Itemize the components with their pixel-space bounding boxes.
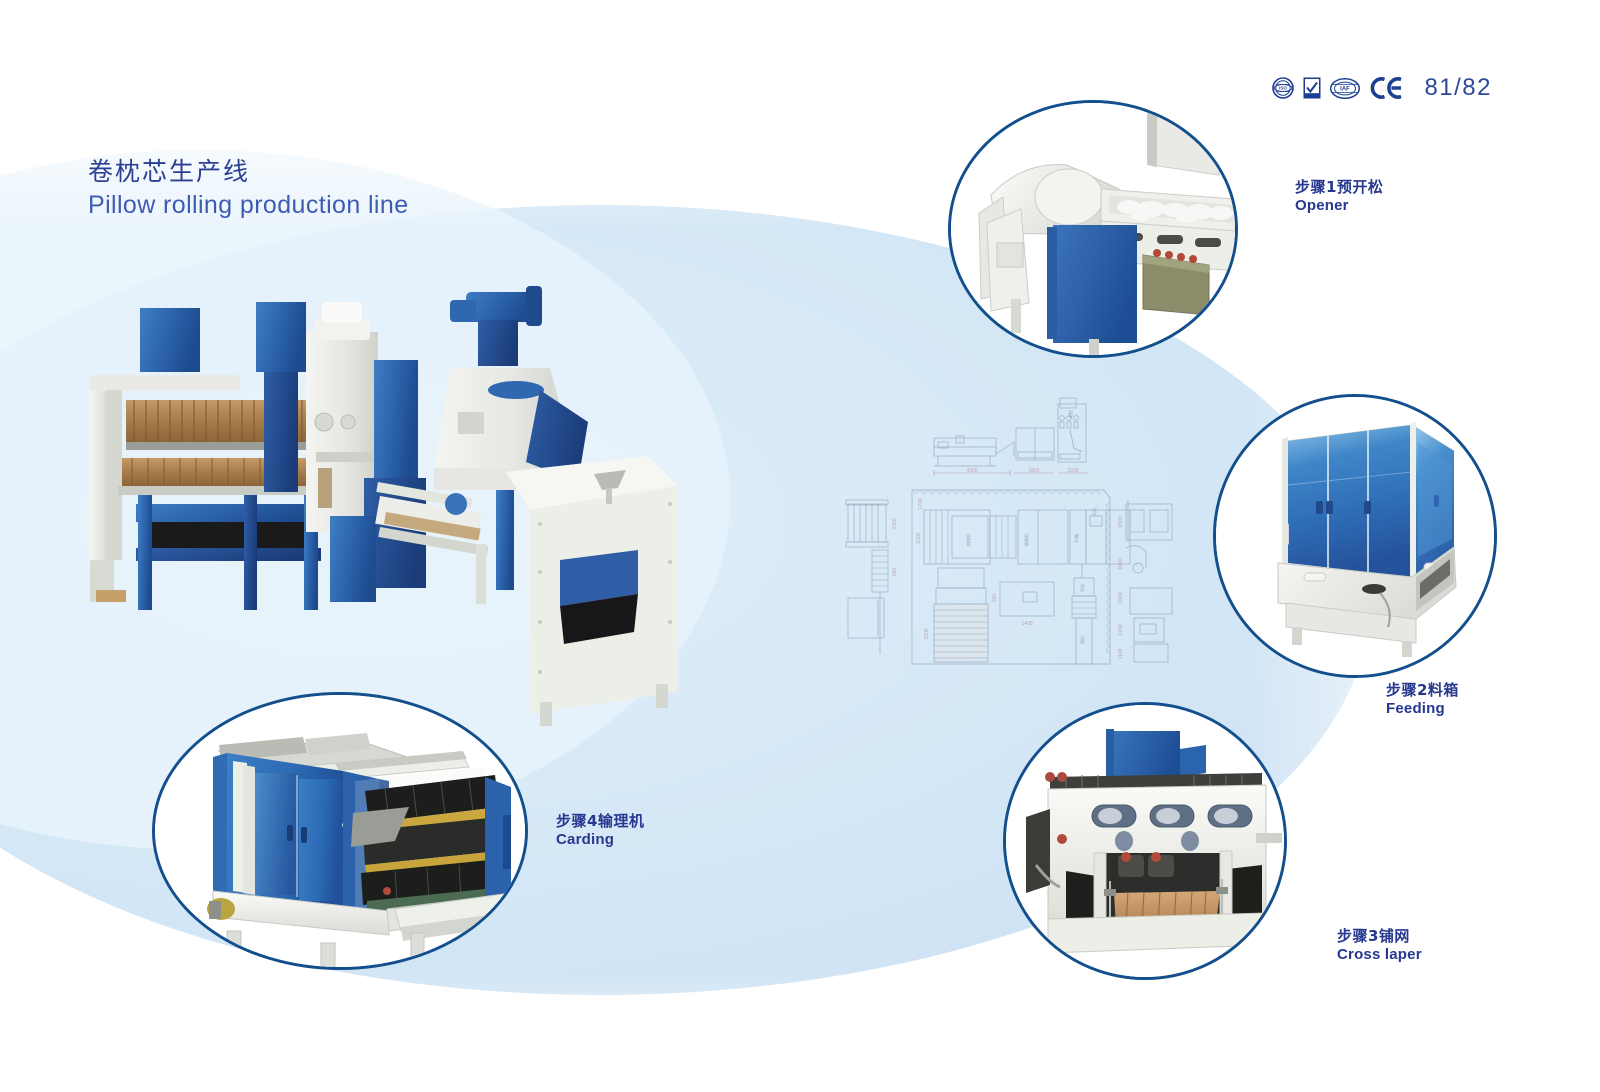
svg-text:IAF: IAF	[1341, 86, 1351, 92]
feeding-caption-cn: 步骤2料箱	[1386, 681, 1459, 700]
svg-text:2300: 2300	[916, 532, 922, 543]
svg-text:2300: 2300	[892, 518, 898, 529]
carding-caption: 步骤4输理机 Carding	[556, 812, 644, 850]
page-number: 81/82	[1424, 74, 1492, 102]
svg-text:梳理机: 梳理机	[965, 533, 972, 546]
opener-caption-cn: 步骤1预开松	[1295, 178, 1383, 197]
carding-caption-en: Carding	[556, 831, 644, 850]
svg-text:1600: 1600	[924, 628, 930, 639]
opener-machine-photo	[951, 103, 1235, 355]
carding-photo-circle[interactable]	[152, 692, 528, 970]
opener-photo-circle[interactable]	[948, 100, 1238, 358]
svg-text:600: 600	[892, 568, 898, 577]
page-title-cn: 卷枕芯生产线	[88, 155, 409, 189]
svg-text:1400: 1400	[1021, 621, 1032, 627]
svg-text:风机: 风机	[1091, 507, 1098, 516]
svg-text:铺网机: 铺网机	[1023, 533, 1030, 546]
cross-laper-machine-photo	[1006, 705, 1284, 977]
svg-text:开松: 开松	[1079, 584, 1086, 592]
brochure-page: 卷枕芯生产线 Pillow rolling production line IS…	[0, 0, 1600, 1092]
svg-text:电控: 电控	[1067, 409, 1074, 418]
svg-text:4900: 4900	[966, 468, 977, 474]
svg-text:1900: 1900	[1118, 558, 1124, 569]
svg-text:喂料: 喂料	[1079, 635, 1086, 644]
svg-text:1200: 1200	[1118, 624, 1124, 635]
svg-text:3000: 3000	[1118, 592, 1124, 603]
main-production-line-photo	[78, 272, 738, 722]
feeding-photo-circle[interactable]	[1213, 394, 1497, 678]
carding-caption-cn: 步骤4输理机	[556, 812, 644, 831]
svg-text:ISO: ISO	[1279, 86, 1287, 91]
winder-unit	[90, 302, 321, 610]
opener-caption: 步骤1预开松 Opener	[1295, 178, 1383, 216]
iaf-seal-icon: IAF	[1330, 78, 1360, 99]
certification-bar: ISO IAF 81/82	[1272, 74, 1492, 102]
svg-text:600: 600	[992, 594, 998, 603]
svg-text:料箱: 料箱	[1073, 534, 1080, 542]
svg-text:1100: 1100	[1118, 648, 1124, 659]
ce-mark-icon	[1369, 76, 1403, 100]
cross-laper-caption: 步骤3铺网 Cross laper	[1337, 927, 1422, 965]
svg-text:2800: 2800	[1028, 468, 1039, 474]
opener-caption-en: Opener	[1295, 197, 1383, 216]
svg-text:2200: 2200	[1067, 468, 1078, 474]
page-title-en: Pillow rolling production line	[88, 189, 409, 223]
feeding-caption: 步骤2料箱 Feeding	[1386, 681, 1459, 719]
iso-seal-icon: ISO	[1272, 77, 1294, 99]
cross-laper-caption-cn: 步骤3铺网	[1337, 927, 1422, 946]
svg-text:1700: 1700	[918, 498, 924, 509]
check-mark-badge-icon	[1303, 77, 1321, 99]
background-fade-bottom	[0, 972, 1600, 1092]
cross-laper-caption-en: Cross laper	[1337, 946, 1422, 965]
feeding-caption-en: Feeding	[1386, 700, 1459, 719]
cross-laper-photo-circle[interactable]	[1003, 702, 1287, 980]
production-line-cad-layout-drawing: 4900 2800 2200	[838, 392, 1178, 672]
carding-machine-photo	[155, 695, 525, 967]
svg-text:1800: 1800	[1118, 516, 1124, 527]
feeding-box-machine-photo	[1216, 397, 1494, 675]
page-title: 卷枕芯生产线 Pillow rolling production line	[88, 155, 409, 223]
